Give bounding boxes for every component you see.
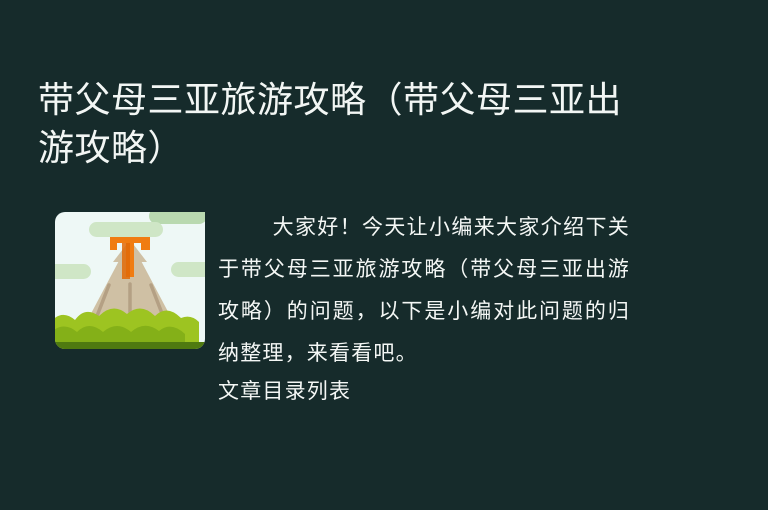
- intro-paragraph: 大家好！今天让小编来大家介绍下关于带父母三亚旅游攻略（带父母三亚出游攻略）的问题…: [218, 206, 630, 374]
- cloud-middle-right: [171, 262, 205, 277]
- cloud-middle-left: [55, 264, 91, 279]
- grass-base-strip: [55, 342, 205, 349]
- article-body: 大家好！今天让小编来大家介绍下关于带父母三亚旅游攻略（带父母三亚出游攻略）的问题…: [218, 206, 630, 408]
- volcano-icon: [55, 212, 205, 349]
- volcano-illustration: [55, 212, 205, 349]
- page-title: 带父母三亚旅游攻略（带父母三亚出游攻略）: [38, 76, 658, 172]
- cloud-top-right: [149, 212, 205, 224]
- cloud-top-left: [89, 222, 163, 237]
- toc-heading: 文章目录列表: [218, 374, 630, 408]
- volcano-lava-drip: [122, 243, 130, 279]
- article-page: 带父母三亚旅游攻略（带父母三亚出游攻略）: [0, 0, 768, 510]
